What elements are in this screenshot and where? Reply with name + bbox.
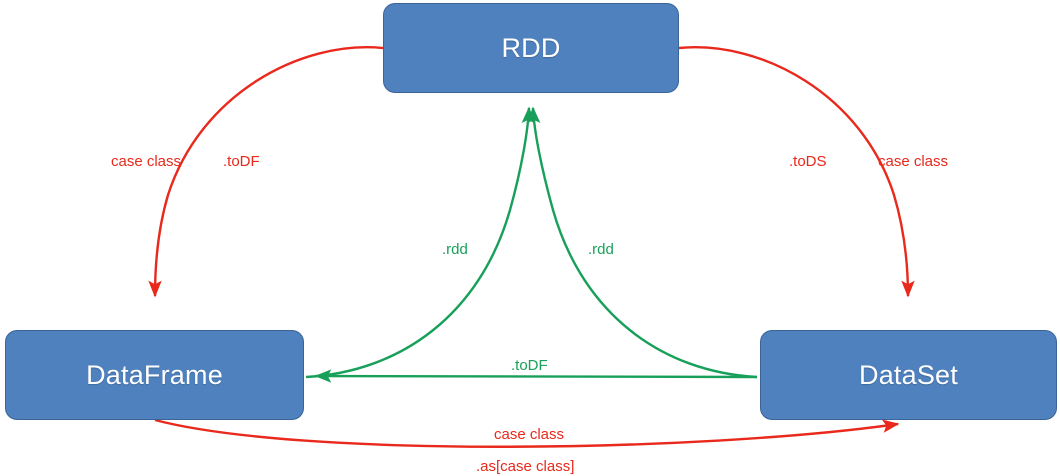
node-dataframe-label: DataFrame: [86, 360, 223, 391]
node-dataset-label: DataSet: [859, 360, 958, 391]
edge-rdd-to-dataset: [679, 47, 908, 296]
diagram-canvas: RDD DataFrame DataSet case class .toDF .…: [0, 0, 1060, 476]
edge-rdd-to-dataframe: [155, 47, 383, 296]
edge-dataframe-to-rdd: [306, 108, 529, 377]
edge-label-rdd-right: .rdd: [588, 242, 614, 257]
edge-label-todf-center: .toDF: [511, 358, 548, 373]
edge-label-case-class-right: case class: [878, 154, 948, 169]
node-rdd-label: RDD: [501, 33, 560, 64]
edge-dataset-to-dataframe: [316, 376, 757, 377]
edge-dataset-to-rdd: [533, 108, 757, 377]
node-rdd[interactable]: RDD: [383, 3, 679, 93]
edge-label-todf-left: .toDF: [223, 154, 260, 169]
edge-label-as-case-class: .as[case class]: [476, 459, 574, 474]
edge-label-rdd-left: .rdd: [442, 242, 468, 257]
node-dataset[interactable]: DataSet: [760, 330, 1057, 420]
edge-label-case-class-bottom: case class: [494, 427, 564, 442]
edge-label-tods-right: .toDS: [789, 154, 827, 169]
node-dataframe[interactable]: DataFrame: [5, 330, 304, 420]
edge-label-case-class-left: case class: [111, 154, 181, 169]
